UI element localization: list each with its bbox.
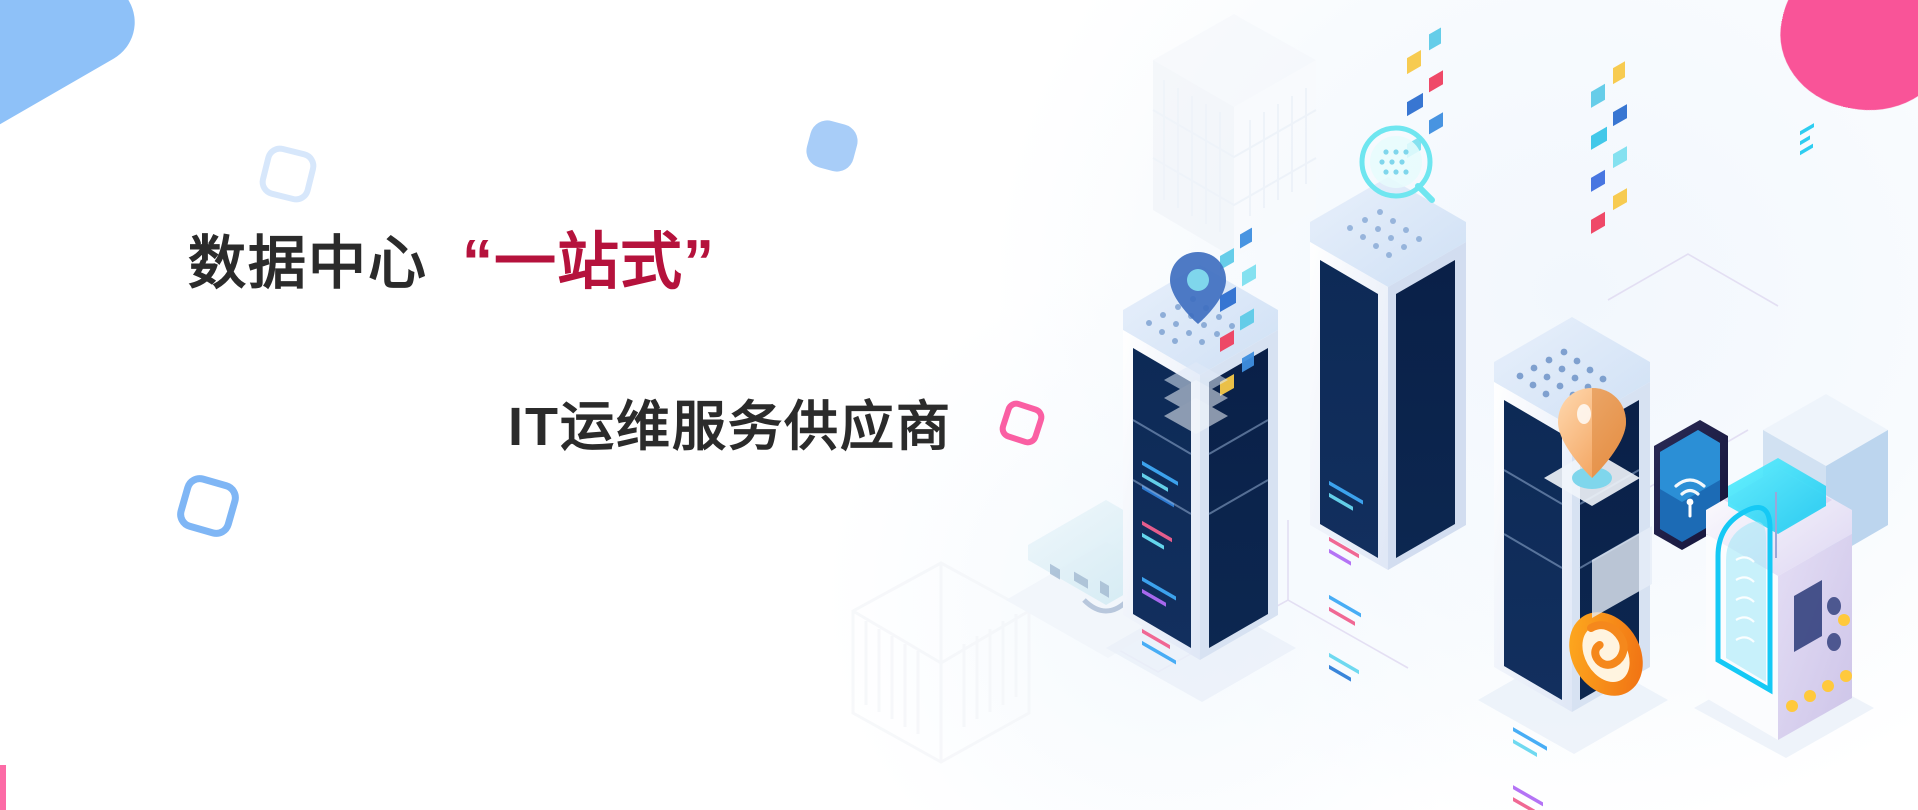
corner-blue-shape [0, 0, 150, 168]
watermark-cube-icon [846, 555, 1036, 770]
ring-blue-strong-shape [173, 471, 242, 540]
analytics-bubble-icon [1362, 128, 1432, 200]
headline-block: 数据中心 “一站式” IT运维服务供应商 [188, 232, 1008, 454]
headline-line-1: 数据中心 “一站式” [188, 232, 1008, 294]
square-blue-shape [803, 117, 862, 176]
data-center-illustration [988, 0, 1918, 810]
network-connection-lines [1048, 254, 1778, 672]
faint-office-building [1153, 14, 1316, 258]
background-wash-primary [1000, 0, 1918, 810]
corner-bar-pink [0, 765, 6, 810]
headline-line-2: IT运维服务供应商 [508, 400, 1008, 454]
cooling-tower [1694, 0, 1874, 810]
headline-prefix: 数据中心 [188, 235, 428, 293]
orange-swirl-icon [1555, 599, 1658, 709]
corner-pink-blob [1767, 0, 1918, 126]
server-rack-back-center [1310, 27, 1466, 681]
monitor-screen-left [1006, 500, 1208, 658]
location-pin-icon [1544, 388, 1640, 506]
server-rack-front-left [1106, 228, 1296, 702]
monitor-screen-right [1123, 330, 1264, 601]
hero-banner: 数据中心 “一站式” IT运维服务供应商 [0, 0, 1918, 810]
smartphone-wifi-icon [1592, 420, 1728, 618]
server-rack-front-right [1478, 61, 1668, 810]
headline-accent: “一站式” [462, 232, 715, 294]
ring-blue-pale-shape [256, 142, 319, 205]
stacked-cube-icon [1164, 362, 1228, 434]
light-server-rack [1763, 0, 1888, 810]
server-marker-icon [1170, 252, 1226, 324]
